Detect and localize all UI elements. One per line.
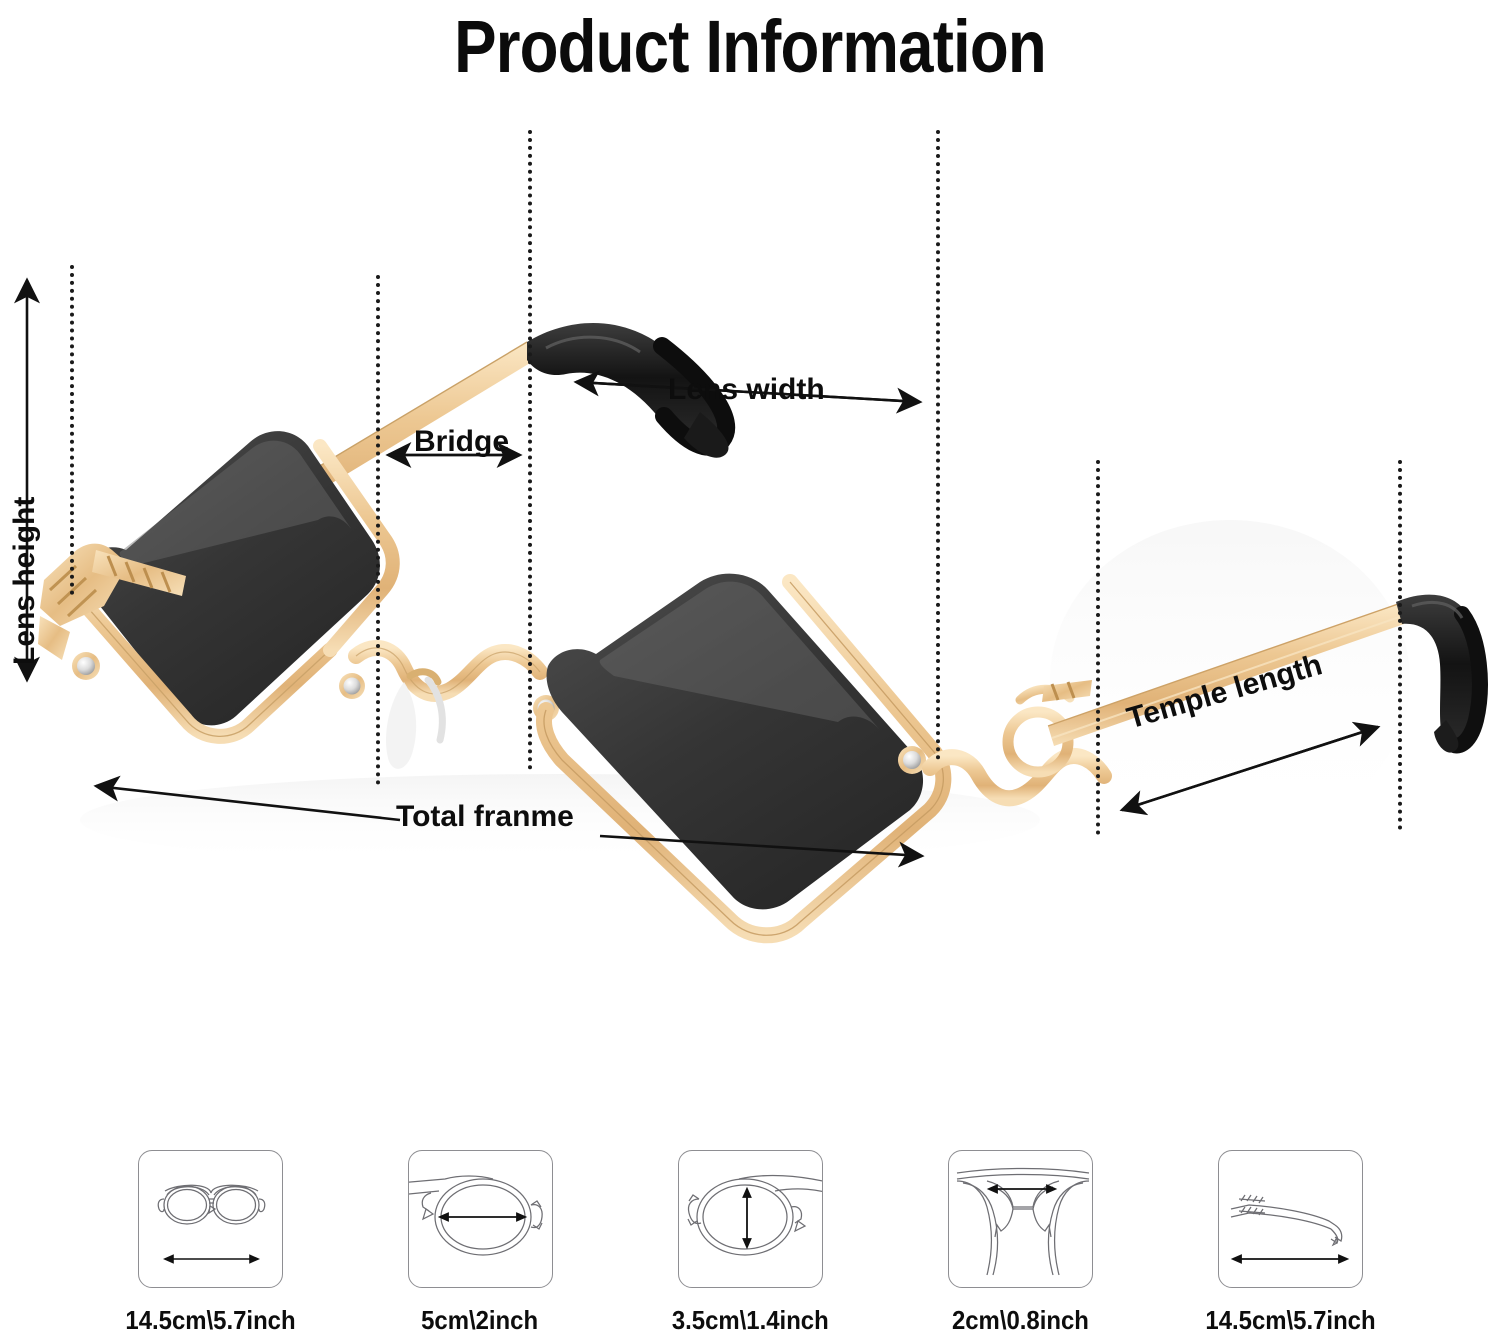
spec-caption-lens-width: 5cm\2inch	[421, 1305, 538, 1336]
spec-caption-total-frame: 14.5cm\5.7inch	[125, 1305, 295, 1336]
spec-item-lens-width: 5cm\2inch	[380, 1150, 580, 1342]
spec-caption-bridge: 2cm\0.8inch	[952, 1305, 1089, 1336]
spec-caption-temple-length: 14.5cm\5.7inch	[1205, 1305, 1375, 1336]
spec-caption-lens-height: 3.5cm\1.4inch	[672, 1305, 829, 1336]
measurement-label-total-frame: Total franme	[396, 800, 574, 834]
measurement-arrows	[0, 120, 1500, 1120]
product-diagram: Lens width Bridge Lens height Temple len…	[0, 120, 1500, 1120]
measurement-label-lens-height: Lens height	[8, 497, 42, 665]
spec-item-lens-height: 3.5cm\1.4inch	[650, 1150, 850, 1342]
measurement-label-bridge: Bridge	[414, 425, 509, 459]
product-information-page: Product Information	[0, 0, 1500, 1342]
lens-width-icon	[408, 1150, 553, 1288]
lens-height-icon	[678, 1150, 823, 1288]
glasses-front-width-icon	[138, 1150, 283, 1288]
temple-length-icon	[1218, 1150, 1363, 1288]
page-title: Product Information	[105, 4, 1395, 89]
spec-item-bridge: 2cm\0.8inch	[920, 1150, 1120, 1342]
spec-item-temple-length: 14.5cm\5.7inch	[1190, 1150, 1390, 1342]
bridge-width-icon	[948, 1150, 1093, 1288]
specification-row: 14.5cm\5.7inch	[0, 1150, 1500, 1342]
spec-item-total-frame: 14.5cm\5.7inch	[110, 1150, 310, 1342]
measurement-label-lens-width: Lens width	[668, 373, 825, 407]
